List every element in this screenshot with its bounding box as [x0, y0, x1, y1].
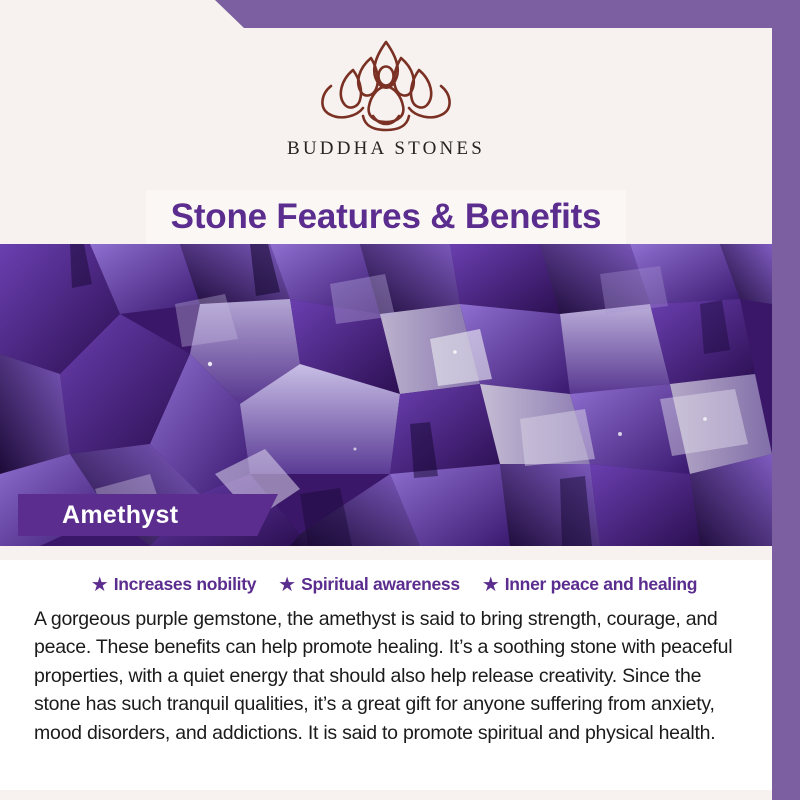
star-icon: ★ — [278, 575, 296, 595]
brand-name: BUDDHA STONES — [287, 138, 485, 160]
page-title: Stone Features & Benefits — [171, 197, 602, 237]
hero-image: Amethyst — [0, 244, 772, 546]
lotus-meditation-figure-icon — [301, 36, 471, 136]
feature-item: ★ Spiritual awareness — [278, 574, 460, 595]
poster-root: BUDDHA STONES Stone Features & Benefits — [0, 0, 800, 800]
section-divider — [0, 546, 772, 560]
frame-bottom-fill — [0, 790, 800, 800]
title-plate: Stone Features & Benefits — [146, 190, 626, 244]
star-icon: ★ — [482, 575, 500, 595]
content-card: BUDDHA STONES Stone Features & Benefits — [0, 28, 772, 790]
stone-name-label: Amethyst — [62, 501, 178, 530]
feature-item: ★ Increases nobility — [91, 574, 256, 595]
stone-name-banner: Amethyst — [18, 494, 278, 536]
stone-info-section: ★ Increases nobility ★ Spiritual awarene… — [0, 560, 772, 790]
feature-item: ★ Inner peace and healing — [482, 574, 697, 595]
feature-label: Increases nobility — [114, 574, 256, 595]
feature-label: Inner peace and healing — [505, 574, 697, 595]
stone-description: A gorgeous purple gemstone, the amethyst… — [34, 605, 754, 747]
feature-list: ★ Increases nobility ★ Spiritual awarene… — [34, 560, 754, 605]
title-band: Stone Features & Benefits — [0, 196, 772, 244]
brand-header: BUDDHA STONES — [0, 28, 772, 196]
feature-label: Spiritual awareness — [301, 574, 460, 595]
star-icon: ★ — [91, 575, 109, 595]
